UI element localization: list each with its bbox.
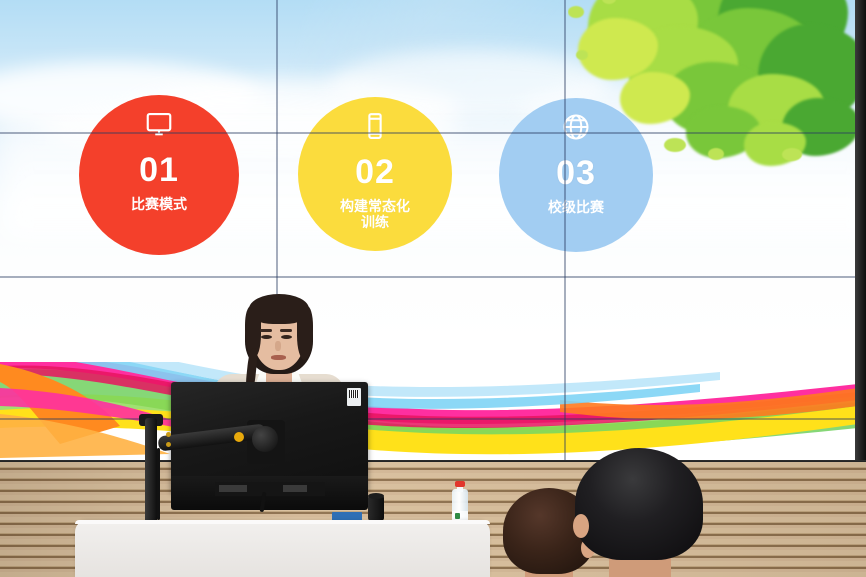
color-ribbon-graphic (0, 362, 858, 462)
presenter-eyebrow-left (260, 329, 272, 332)
audience-member-right (575, 448, 703, 577)
water-bottle (452, 481, 468, 525)
screen-frame-right (855, 0, 866, 470)
caption-line: 训练 (340, 215, 410, 231)
water-bottle-cap (455, 481, 465, 487)
wall-bezel-vertical (564, 0, 566, 462)
desktop-monitor-rear (171, 382, 368, 510)
table-edge-highlight (75, 520, 490, 524)
ribbon-svg (0, 362, 858, 462)
audience-ear (573, 514, 589, 538)
caption-line: 比赛模式 (131, 197, 187, 213)
monitor-pole (145, 418, 157, 526)
info-circle-caption: 校级比赛 (548, 200, 604, 216)
info-circle-03[interactable]: 03 校级比赛 (499, 98, 653, 252)
monitor-icon (144, 109, 174, 139)
caption-line: 校级比赛 (548, 200, 604, 216)
info-circle-number: 01 (139, 153, 179, 187)
presenter-eyebrow-right (280, 329, 292, 332)
info-circle-caption: 构建常态化 训练 (340, 199, 410, 231)
presenter-mouth (271, 355, 286, 360)
wall-bezel-horizontal (0, 132, 858, 134)
monitor-arm-bolt (166, 432, 171, 437)
water-bottle-logo (455, 513, 460, 519)
info-circle-number: 03 (556, 156, 596, 190)
presenter-eye-left (261, 335, 272, 339)
presenter-nose (275, 341, 281, 351)
presentation-room-photo: 01 比赛模式 02 构建常态化 训练 (0, 0, 866, 577)
info-circle-caption: 比赛模式 (131, 197, 187, 213)
monitor-port (219, 485, 247, 492)
monitor-arm-accent (234, 432, 244, 442)
monitor-arm-joint (252, 426, 278, 452)
info-circle-01[interactable]: 01 比赛模式 (79, 95, 239, 255)
led-video-wall: 01 比赛模式 02 构建常态化 训练 (0, 0, 858, 462)
monitor-port (283, 485, 307, 492)
info-circle-number: 02 (355, 155, 395, 189)
mobile-phone-icon (360, 111, 390, 141)
monitor-arm-bolt (166, 442, 171, 447)
microphone-puck-top (368, 493, 384, 499)
audience-hair (575, 448, 703, 560)
presenter-eye-right (281, 335, 292, 339)
monitor-cable (157, 448, 160, 520)
wall-bezel-horizontal (0, 418, 858, 420)
info-circle-02[interactable]: 02 构建常态化 训练 (298, 97, 452, 251)
white-conference-table (75, 520, 490, 577)
caption-line: 构建常态化 (340, 199, 410, 215)
wall-bezel-horizontal (0, 276, 858, 278)
monitor-serial-label (347, 388, 361, 406)
